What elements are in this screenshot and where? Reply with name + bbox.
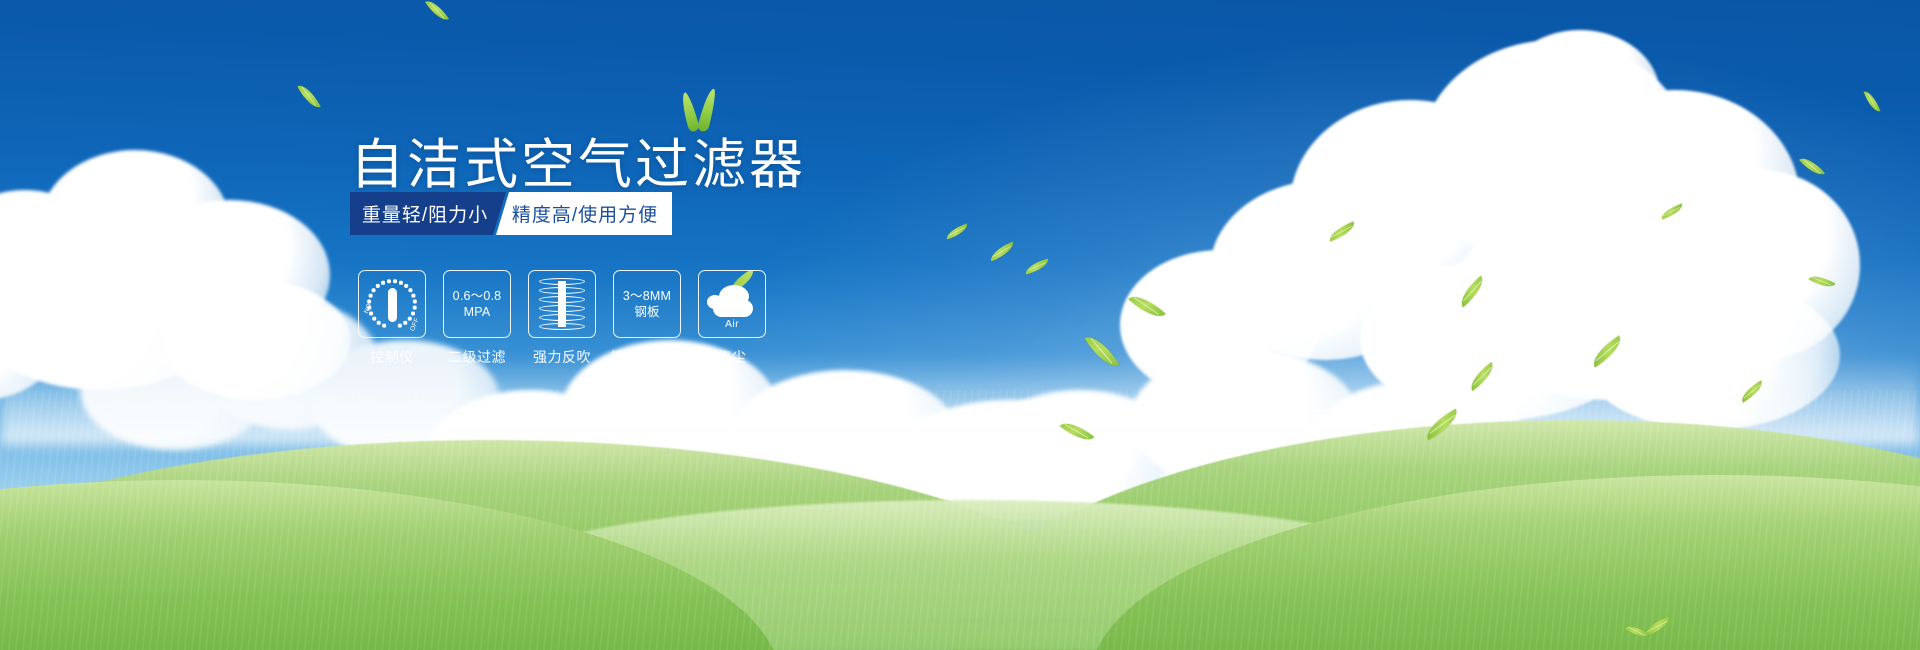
feature-text-line1: 0.6～0.8 — [453, 288, 502, 304]
feature-item: NO OFF 控制仪 — [357, 270, 427, 367]
feature-label: 二级过滤 — [448, 347, 506, 367]
product-banner: 自洁式空气过滤器 重量轻/阻力小 精度高/使用方便 NO OFF 控制仪 — [0, 0, 1920, 650]
feature-icon-box: Air — [698, 270, 766, 338]
page-title: 自洁式空气过滤器 — [350, 120, 806, 199]
feature-icon-box: 0.6～0.8 MPA — [443, 270, 511, 338]
gauge-needle-icon — [388, 288, 397, 322]
coil-core — [558, 281, 566, 327]
feature-list: NO OFF 控制仪 0.6～0.8 MPA 二级过滤 — [357, 270, 767, 367]
badge-group: 重量轻/阻力小 精度高/使用方便 — [350, 192, 672, 235]
feature-item: 3～8MM 钢板 钢结构强度 — [612, 270, 682, 367]
banner-content: 自洁式空气过滤器 重量轻/阻力小 精度高/使用方便 NO OFF 控制仪 — [0, 0, 1920, 650]
badge-secondary: 精度高/使用方便 — [496, 192, 672, 235]
feature-text-line2: 钢板 — [634, 304, 659, 320]
feature-item: Air 集尘 — [697, 270, 767, 367]
feature-label: 控制仪 — [370, 347, 414, 367]
feature-label: 钢结构强度 — [611, 347, 684, 367]
cloud-base — [713, 300, 753, 317]
feature-icon-box: 3～8MM 钢板 — [613, 270, 681, 338]
gauge-icon: NO OFF — [364, 278, 420, 330]
air-cloud-icon: Air — [705, 279, 759, 329]
coil-filter-icon — [539, 278, 585, 330]
feature-item: 0.6～0.8 MPA 二级过滤 — [442, 270, 512, 367]
feature-label: 强力反吹 — [533, 347, 591, 367]
feature-icon-box — [528, 270, 596, 338]
air-label: Air — [705, 318, 759, 330]
feature-label: 集尘 — [718, 347, 747, 367]
feature-icon-box: NO OFF — [358, 270, 426, 338]
badge-primary: 重量轻/阻力小 — [350, 192, 506, 235]
feature-text-line2: MPA — [464, 304, 491, 320]
feature-text-line1: 3～8MM — [623, 288, 671, 304]
feature-item: 强力反吹 — [527, 270, 597, 367]
